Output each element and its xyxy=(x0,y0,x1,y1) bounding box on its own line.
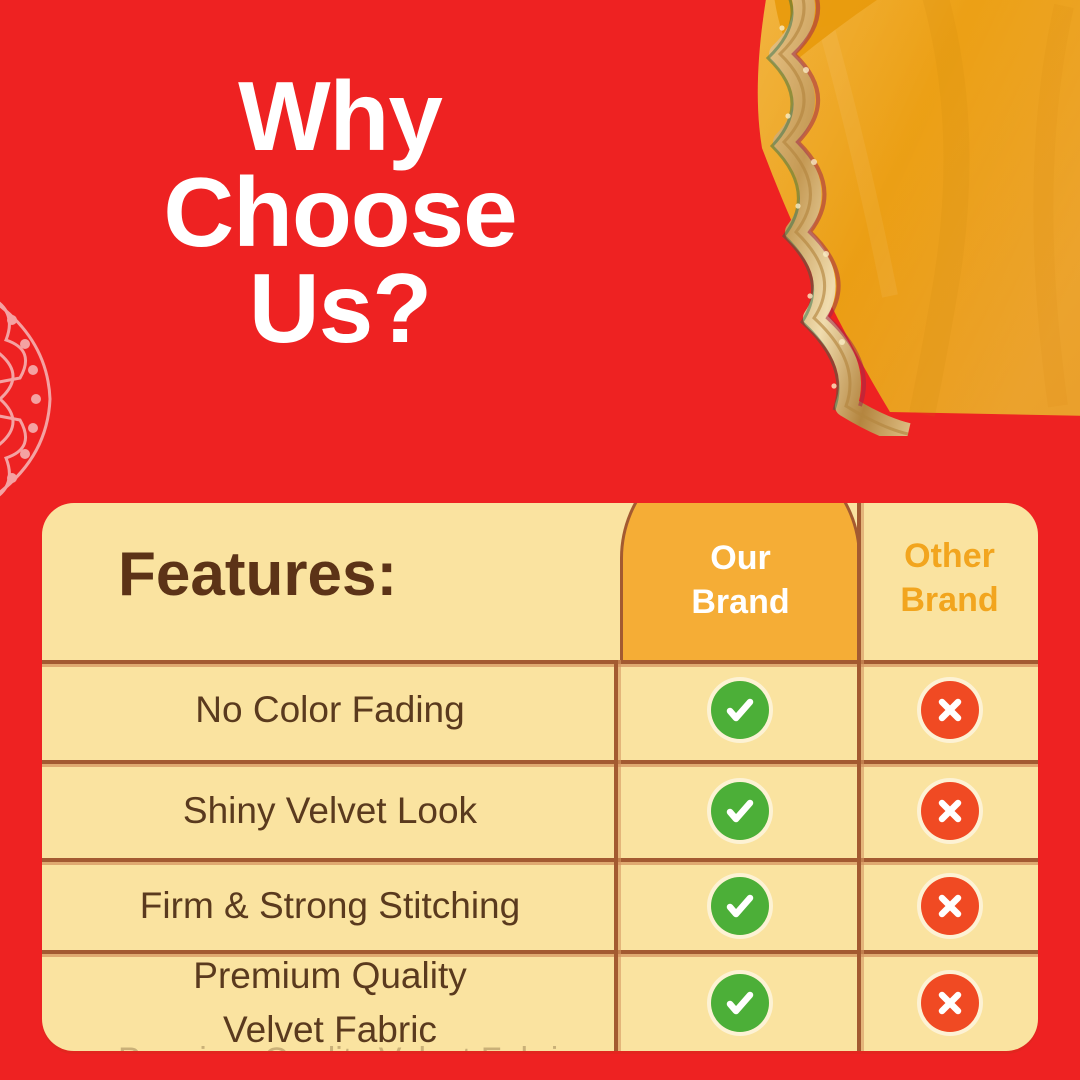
other-brand-mark xyxy=(861,764,1038,858)
feature-label: No Color Fading xyxy=(42,660,618,760)
title-line-3: Us? xyxy=(40,260,640,356)
table-header-row: Features: Our Brand Other Brand xyxy=(42,503,1038,660)
poster-canvas: Why Choose Us? Features: Our Brand Other… xyxy=(0,0,1080,1080)
other-brand-mark xyxy=(861,862,1038,950)
other-brand-mark xyxy=(861,660,1038,760)
check-circle-icon xyxy=(711,974,769,1032)
feature-label: Premium Quality Velvet Fabric xyxy=(42,954,618,1051)
table-row: Firm & Strong Stitching xyxy=(42,862,1038,950)
column-header-other-brand: Other Brand xyxy=(861,535,1038,622)
features-heading: Features: xyxy=(118,539,397,610)
our-brand-mark xyxy=(618,764,861,858)
title-line-2: Choose xyxy=(40,164,640,260)
check-circle-icon xyxy=(711,681,769,739)
comparison-table-card: Features: Our Brand Other Brand No Color… xyxy=(42,503,1038,1051)
our-brand-line-2: Brand xyxy=(620,580,861,624)
our-brand-mark xyxy=(618,660,861,760)
table-row: Shiny Velvet Look xyxy=(42,764,1038,858)
cross-circle-icon xyxy=(921,681,979,739)
feature-label: Shiny Velvet Look xyxy=(42,764,618,858)
other-brand-line-2: Brand xyxy=(861,579,1038,623)
table-row: Premium Quality Velvet Fabric xyxy=(42,954,1038,1051)
check-circle-icon xyxy=(711,877,769,935)
our-brand-mark xyxy=(618,954,861,1051)
our-brand-mark xyxy=(618,862,861,950)
our-brand-line-1: Our xyxy=(620,536,861,580)
feature-label: Firm & Strong Stitching xyxy=(42,862,618,950)
cross-circle-icon xyxy=(921,877,979,935)
check-circle-icon xyxy=(711,782,769,840)
cross-circle-icon xyxy=(921,782,979,840)
feature-label-line-1: Premium Quality xyxy=(193,949,466,1003)
title-line-1: Why xyxy=(40,68,640,164)
other-brand-mark xyxy=(861,954,1038,1051)
cross-circle-icon xyxy=(921,974,979,1032)
page-title: Why Choose Us? xyxy=(40,68,640,356)
clipped-row-text: Premium Quality Velvet Fabric xyxy=(118,1041,618,1051)
other-brand-line-1: Other xyxy=(861,535,1038,579)
velvet-fabric-photo xyxy=(676,0,1080,436)
table-row: No Color Fading xyxy=(42,660,1038,760)
column-header-our-brand: Our Brand xyxy=(620,536,861,624)
